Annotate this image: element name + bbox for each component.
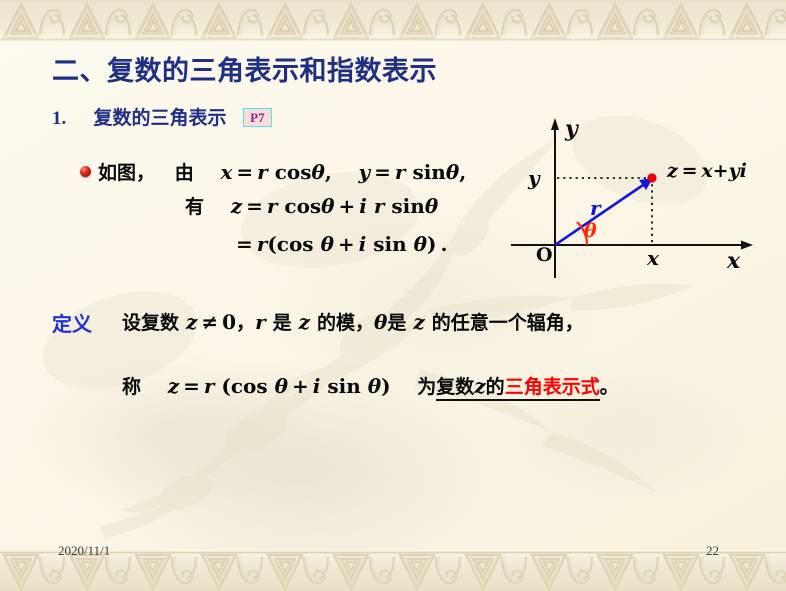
equation-y: y [359, 160, 371, 184]
line2-conj: 有 [185, 196, 204, 218]
def-line2-mid: 为 [417, 376, 436, 398]
def-line2-prefix: 称 [122, 376, 141, 398]
x-value-label: x [647, 246, 659, 270]
origin-label: O [536, 244, 553, 266]
math-line-1: 如图， 由 x = rcosθ, y = rsinθ, [98, 158, 466, 185]
equation-x: x [220, 160, 232, 184]
point-label: z = x+yi [667, 160, 747, 182]
line1-conj: 由 [175, 162, 194, 184]
footer-date: 2020/11/1 [58, 543, 110, 559]
y-axis-arrow [551, 118, 559, 130]
definition-line-2: 称 z = r(cosθ + isinθ) 为复数z的三角表示式。 [122, 372, 619, 399]
red-sphere-bullet-icon [80, 166, 91, 177]
x-axis-label: x [727, 248, 740, 274]
math-line-2: 有 z = rcosθ + irsinθ [185, 192, 438, 219]
page-title: 二、复数的三角表示和指数表示 [52, 49, 437, 88]
angle-label: θ [584, 220, 597, 242]
point-z-marker [647, 173, 656, 182]
definition-line-1: 设复数z ≠ 0，r是z的模，θ是z的任意一个辐角， [122, 308, 584, 335]
y-axis-label: y [565, 116, 578, 142]
page-reference-badge[interactable]: P7 [243, 108, 271, 127]
equation-z: z [231, 194, 242, 218]
subheading-text: 复数的三角表示 [94, 107, 227, 129]
highlighted-term: 三角表示式 [505, 376, 600, 398]
definition-label: 定义 [52, 308, 92, 337]
x-axis-arrow [741, 241, 753, 250]
line1-prefix: 如图， [98, 162, 155, 184]
radius-label: r [590, 196, 601, 220]
top-decorative-border [0, 0, 786, 42]
slide-canvas: 二、复数的三角表示和指数表示 1. 复数的三角表示 P7 如图， 由 x = r… [0, 0, 786, 591]
math-line-3: = r(cosθ + isinθ) . [236, 232, 447, 256]
subheading-number: 1. [52, 108, 66, 129]
bottom-decorative-border [0, 549, 786, 591]
section-subheading: 1. 复数的三角表示 P7 [52, 103, 272, 130]
def-line2-end: 。 [600, 376, 619, 398]
y-value-label: y [528, 166, 540, 190]
footer-page-number: 22 [706, 543, 719, 559]
complex-plane-diagram: y y x x O r θ z = x+yi [495, 108, 780, 288]
